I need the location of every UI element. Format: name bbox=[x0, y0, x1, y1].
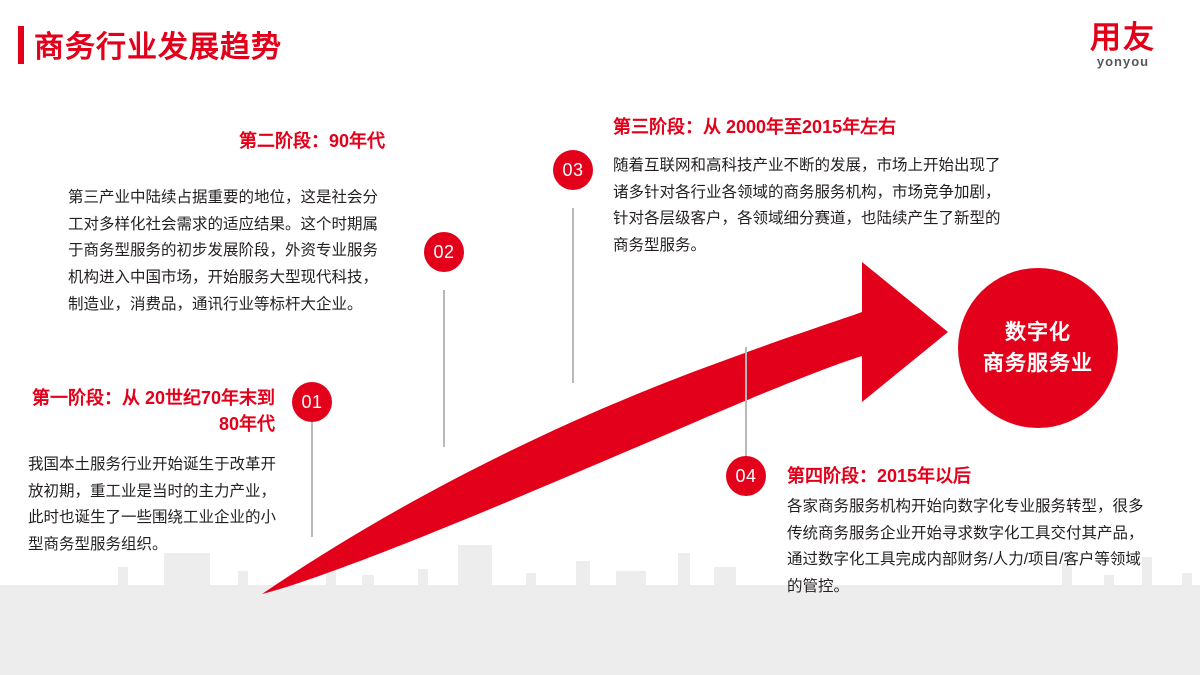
marker-dot-04 bbox=[736, 325, 754, 347]
stage-badge-04[interactable]: 04 bbox=[726, 456, 766, 496]
outcome-line-1: 数字化 bbox=[1005, 317, 1071, 349]
outcome-badge: 数字化 商务服务业 bbox=[958, 268, 1118, 428]
stem-04 bbox=[745, 344, 747, 458]
stage-badge-03-label: 03 bbox=[562, 160, 583, 181]
stage-04-body: 各家商务服务机构开始向数字化专业服务转型，很多传统商务服务企业开始寻求数字化工具… bbox=[787, 494, 1147, 601]
stage-badge-03[interactable]: 03 bbox=[553, 150, 593, 190]
stage-badge-04-label: 04 bbox=[735, 466, 756, 487]
stage-03-heading: 第三阶段：从 2000年至2015年左右 bbox=[613, 114, 1033, 140]
stage-01-heading: 第一阶段：从 20世纪70年末到80年代 bbox=[20, 385, 275, 437]
stage-01-body: 我国本土服务行业开始诞生于改革开放初期，重工业是当时的主力产业，此时也诞生了一些… bbox=[28, 452, 278, 559]
stage-badge-02[interactable]: 02 bbox=[424, 232, 464, 272]
outcome-line-2: 商务服务业 bbox=[983, 348, 1093, 380]
slide-root: 商务行业发展趋势 用友 yonyou 数字化 商务服务业 01 02 03 04… bbox=[0, 0, 1200, 675]
stage-03-body: 随着互联网和高科技产业不断的发展，市场上开始出现了诸多针对各行业各领域的商务服务… bbox=[613, 153, 1003, 260]
stage-badge-02-label: 02 bbox=[433, 242, 454, 263]
stem-02 bbox=[443, 290, 445, 456]
stage-04-heading: 第四阶段：2015年以后 bbox=[787, 463, 1117, 489]
marker-dot-01 bbox=[306, 537, 319, 550]
stem-01 bbox=[311, 420, 313, 544]
stage-02-body: 第三产业中陆续占据重要的地位，这是社会分工对多样化社会需求的适应结果。这个时期属… bbox=[68, 185, 390, 318]
marker-dot-03 bbox=[565, 383, 581, 402]
stage-badge-01[interactable]: 01 bbox=[292, 382, 332, 422]
stage-02-heading: 第二阶段：90年代 bbox=[120, 128, 385, 154]
marker-dot-02 bbox=[436, 447, 451, 464]
stage-badge-01-label: 01 bbox=[301, 392, 322, 413]
stem-03 bbox=[572, 208, 574, 396]
